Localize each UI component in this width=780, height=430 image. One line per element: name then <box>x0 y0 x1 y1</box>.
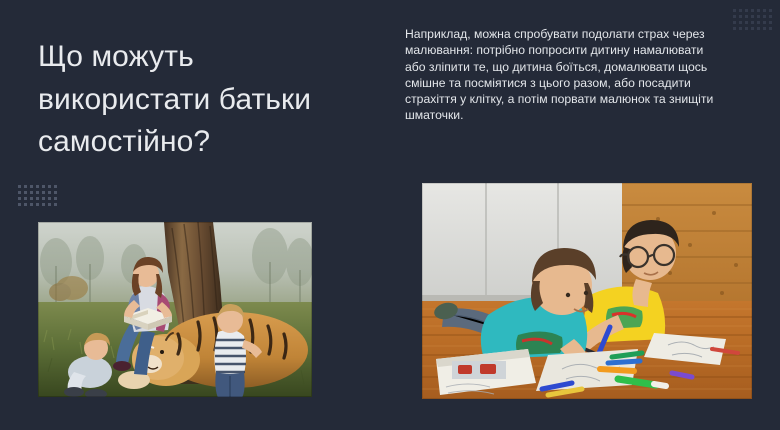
decorative-dot <box>54 197 57 200</box>
decorative-dot <box>30 185 33 188</box>
decorative-dot <box>36 191 39 194</box>
decorative-dot <box>54 185 57 188</box>
decorative-dot <box>745 21 748 24</box>
decorative-dot <box>757 15 760 18</box>
decorative-dot <box>48 203 51 206</box>
decorative-dot <box>54 191 57 194</box>
photo-left-artwork <box>38 222 312 397</box>
decorative-dot <box>48 185 51 188</box>
decorative-dot <box>769 27 772 30</box>
decorative-dot <box>48 197 51 200</box>
decorative-dot <box>757 27 760 30</box>
decorative-dot <box>733 27 736 30</box>
decorative-dot <box>54 203 57 206</box>
decorative-dot <box>757 9 760 12</box>
photo-children-with-tiger <box>38 222 312 397</box>
decorative-dot <box>42 185 45 188</box>
decorative-dot <box>24 185 27 188</box>
decorative-dot <box>751 9 754 12</box>
decorative-dot <box>739 27 742 30</box>
decorative-dot <box>18 203 21 206</box>
decorative-dot <box>751 15 754 18</box>
decorative-dot <box>36 197 39 200</box>
decorative-dot <box>42 191 45 194</box>
decorative-dot <box>751 21 754 24</box>
decorative-dot <box>18 191 21 194</box>
slide-body-text: Наприклад, можна спробувати подолати стр… <box>405 26 727 124</box>
decorative-dot <box>24 203 27 206</box>
decorative-dot <box>42 197 45 200</box>
decorative-dot <box>751 27 754 30</box>
decorative-dot <box>733 9 736 12</box>
decorative-dot <box>769 9 772 12</box>
decorative-dot <box>36 203 39 206</box>
decorative-dot <box>18 197 21 200</box>
decorative-dot <box>36 185 39 188</box>
dot-grid-decoration-top-right <box>733 9 772 30</box>
decorative-dot <box>739 9 742 12</box>
decorative-dot <box>763 9 766 12</box>
decorative-dot <box>24 197 27 200</box>
decorative-dot <box>30 203 33 206</box>
decorative-dot <box>739 15 742 18</box>
decorative-dot <box>763 27 766 30</box>
decorative-dot <box>733 21 736 24</box>
decorative-dot <box>42 203 45 206</box>
photo-right-artwork <box>422 183 752 399</box>
decorative-dot <box>733 15 736 18</box>
dot-grid-decoration-left <box>18 185 57 206</box>
decorative-dot <box>18 185 21 188</box>
slide-title: Що можуть використати батьки самостійно? <box>38 36 368 164</box>
photo-boys-drawing <box>422 183 752 399</box>
decorative-dot <box>769 21 772 24</box>
decorative-dot <box>769 15 772 18</box>
decorative-dot <box>763 21 766 24</box>
decorative-dot <box>30 197 33 200</box>
decorative-dot <box>757 21 760 24</box>
decorative-dot <box>24 191 27 194</box>
presentation-slide: Що можуть використати батьки самостійно?… <box>0 0 780 430</box>
decorative-dot <box>763 15 766 18</box>
decorative-dot <box>745 27 748 30</box>
decorative-dot <box>745 9 748 12</box>
decorative-dot <box>30 191 33 194</box>
decorative-dot <box>745 15 748 18</box>
decorative-dot <box>739 21 742 24</box>
decorative-dot <box>48 191 51 194</box>
